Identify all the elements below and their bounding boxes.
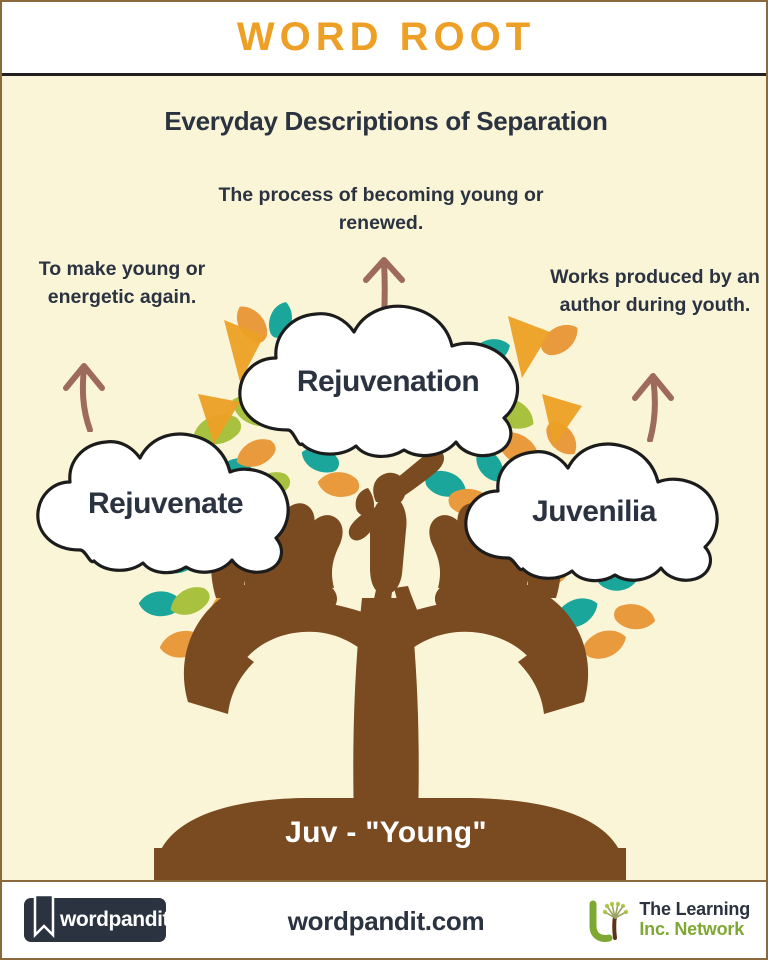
- partner-name-line1: The Learning: [639, 900, 750, 920]
- subtitle: Everyday Descriptions of Separation: [2, 106, 768, 137]
- cloud-label-rejuvenate: Rejuvenate: [88, 487, 243, 521]
- wordpandit-logo[interactable]: wordpandit: [24, 898, 166, 942]
- bookmark-icon: [33, 895, 55, 939]
- cloud-juvenilia: Juvenilia: [454, 436, 734, 588]
- arrow-up-right-icon: [622, 364, 684, 442]
- wordpandit-logo-text: wordpandit: [60, 908, 169, 932]
- cloud-label-juvenilia: Juvenilia: [532, 495, 656, 529]
- infographic-poster: WORD ROOT Everyday Descriptions of Separ…: [0, 0, 768, 960]
- partner-name-line2: Inc. Network: [639, 920, 750, 940]
- juvenilia-description: Works produced by an author during youth…: [544, 264, 766, 319]
- cloud-label-rejuvenation: Rejuvenation: [297, 365, 479, 399]
- the-learning-inc-network-logo[interactable]: The Learning Inc. Network: [585, 896, 750, 944]
- arrow-up-left-icon: [54, 354, 116, 432]
- rejuvenation-description: The process of becoming young or renewed…: [186, 182, 576, 237]
- rejuvenate-description: To make young or energetic again.: [8, 256, 236, 311]
- header-bar: WORD ROOT: [2, 2, 768, 76]
- footer-bar: wordpandit wordpandit.com The Learning: [2, 880, 768, 958]
- page-title: WORD ROOT: [237, 15, 535, 60]
- tree-u-mark-icon: [585, 896, 633, 944]
- cloud-rejuvenate: Rejuvenate: [28, 426, 303, 581]
- root-banner-text: Juv - "Young": [2, 816, 768, 850]
